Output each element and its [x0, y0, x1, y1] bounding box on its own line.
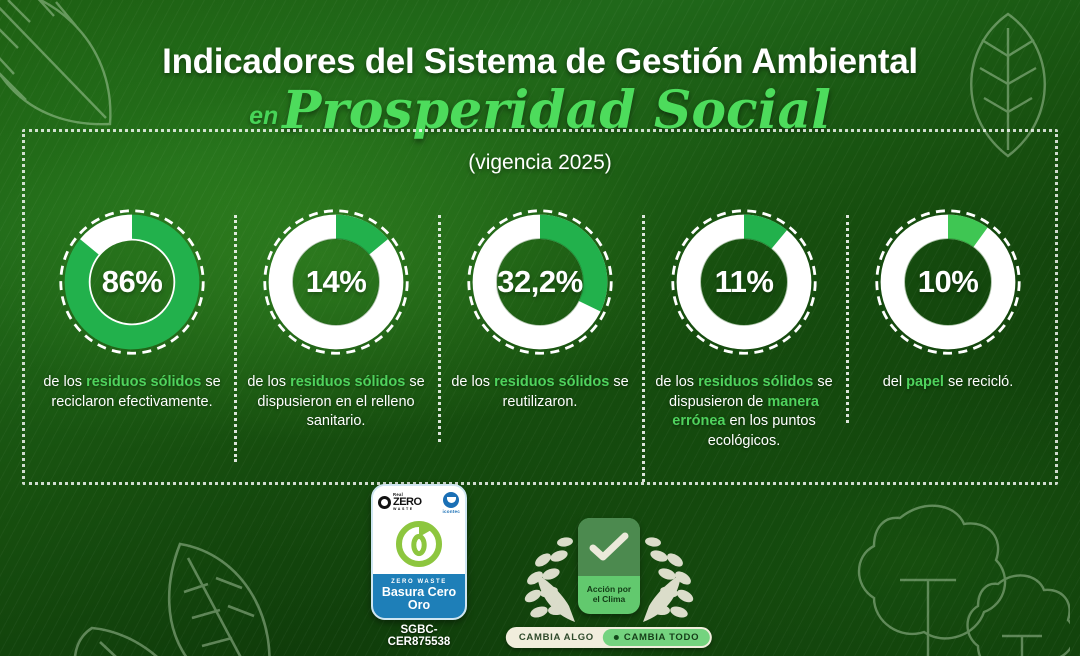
indicator-row: 86% de los residuos sólidos se reciclaro…	[30, 205, 1050, 452]
donut-value-label: 14%	[259, 205, 413, 359]
caption-highlight: papel	[906, 374, 944, 390]
climate-label-line1: Acción por	[578, 584, 640, 594]
indicator-caption: de los residuos sólidos se dispusieron e…	[242, 373, 430, 432]
donut-value-label: 32,2%	[463, 205, 617, 359]
pill-option-cambia-todo-label: CAMBIA TODO	[624, 632, 699, 643]
certificate-code: SGBC-CER875538	[371, 624, 467, 648]
donut-chart: 32,2%	[463, 205, 617, 359]
caption-text: de los	[451, 374, 494, 390]
caption-text: de los	[43, 374, 86, 390]
zero-waste-level: Oro	[377, 599, 461, 612]
donut-chart: 86%	[55, 205, 209, 359]
zero-waste-logo: Real ZERO WASTE	[378, 493, 422, 512]
climate-action-toggle[interactable]: CAMBIA ALGO CAMBIA TODO	[506, 627, 712, 648]
donut-value-label: 11%	[667, 205, 821, 359]
donut-chart: 14%	[259, 205, 413, 359]
pill-option-cambia-todo[interactable]: CAMBIA TODO	[603, 629, 710, 646]
caption-text: de los	[247, 374, 290, 390]
icontec-mark-icon	[443, 492, 459, 508]
zero-waste-card: Real ZERO WASTE icontec	[371, 484, 467, 621]
title-prefix: en	[249, 102, 278, 131]
zero-waste-mark-bottom: WASTE	[393, 508, 422, 512]
climate-action-card: Acción por el Clima	[578, 518, 640, 614]
caption-text: se recicló.	[944, 374, 1013, 390]
donut-chart: 10%	[871, 205, 1025, 359]
caption-highlight: residuos sólidos	[698, 374, 813, 390]
icontec-logo: icontec	[443, 492, 460, 514]
zero-waste-card-footer: ZERO WASTE Basura Cero Oro	[373, 574, 465, 619]
infographic-poster: Indicadores del Sistema de Gestión Ambie…	[0, 0, 1080, 656]
indicator-caption: de los residuos sólidos se reutilizaron.	[446, 373, 634, 412]
climate-label-line2: el Clima	[578, 594, 640, 604]
zero-waste-card-header: Real ZERO WASTE icontec	[373, 486, 465, 516]
indicator-caption: del papel se recicló.	[883, 373, 1014, 393]
certification-badges: Real ZERO WASTE icontec	[0, 484, 1080, 649]
pill-option-cambia-algo[interactable]: CAMBIA ALGO	[508, 629, 603, 646]
zero-waste-badge: Real ZERO WASTE icontec	[371, 484, 467, 649]
climate-check-panel	[578, 518, 640, 576]
zero-waste-kicker: ZERO WASTE	[377, 579, 461, 585]
caption-highlight: residuos sólidos	[290, 374, 405, 390]
caption-highlight: residuos sólidos	[494, 374, 609, 390]
indicator-cell: 14% de los residuos sólidos se dispusier…	[234, 205, 438, 432]
climate-action-badge: Acción por el Clima CAMBIA ALGO CAMBIA T…	[509, 518, 709, 648]
donut-value-label: 10%	[871, 205, 1025, 359]
icontec-name: icontec	[443, 509, 460, 514]
zero-ring-icon	[378, 496, 391, 509]
indicator-caption: de los residuos sólidos se dispusieron d…	[650, 373, 838, 452]
caption-text: del	[883, 374, 906, 390]
caption-highlight: residuos sólidos	[86, 374, 201, 390]
zero-waste-name: Basura Cero	[377, 586, 461, 599]
donut-chart: 11%	[667, 205, 821, 359]
climate-action-label: Acción por el Clima	[578, 576, 640, 604]
indicator-cell: 86% de los residuos sólidos se reciclaro…	[30, 205, 234, 412]
indicator-cell: 11% de los residuos sólidos se dispusier…	[642, 205, 846, 452]
selected-dot-icon	[614, 635, 619, 640]
donut-value-label: 86%	[55, 205, 209, 359]
indicator-caption: de los residuos sólidos se reciclaron ef…	[38, 373, 226, 412]
checkmark-icon	[589, 531, 629, 563]
indicator-cell: 32,2% de los residuos sólidos se reutili…	[438, 205, 642, 412]
page-subtitle-line: en Prosperidad Social	[0, 86, 1080, 135]
zero-waste-recycle-emblem	[373, 516, 465, 574]
recycle-arrow-icon	[393, 518, 445, 570]
caption-text: de los	[655, 374, 698, 390]
title-script: Prosperidad Social	[282, 86, 831, 135]
page-title: Indicadores del Sistema de Gestión Ambie…	[0, 42, 1080, 82]
indicator-cell: 10% del papel se recicló.	[846, 205, 1050, 393]
